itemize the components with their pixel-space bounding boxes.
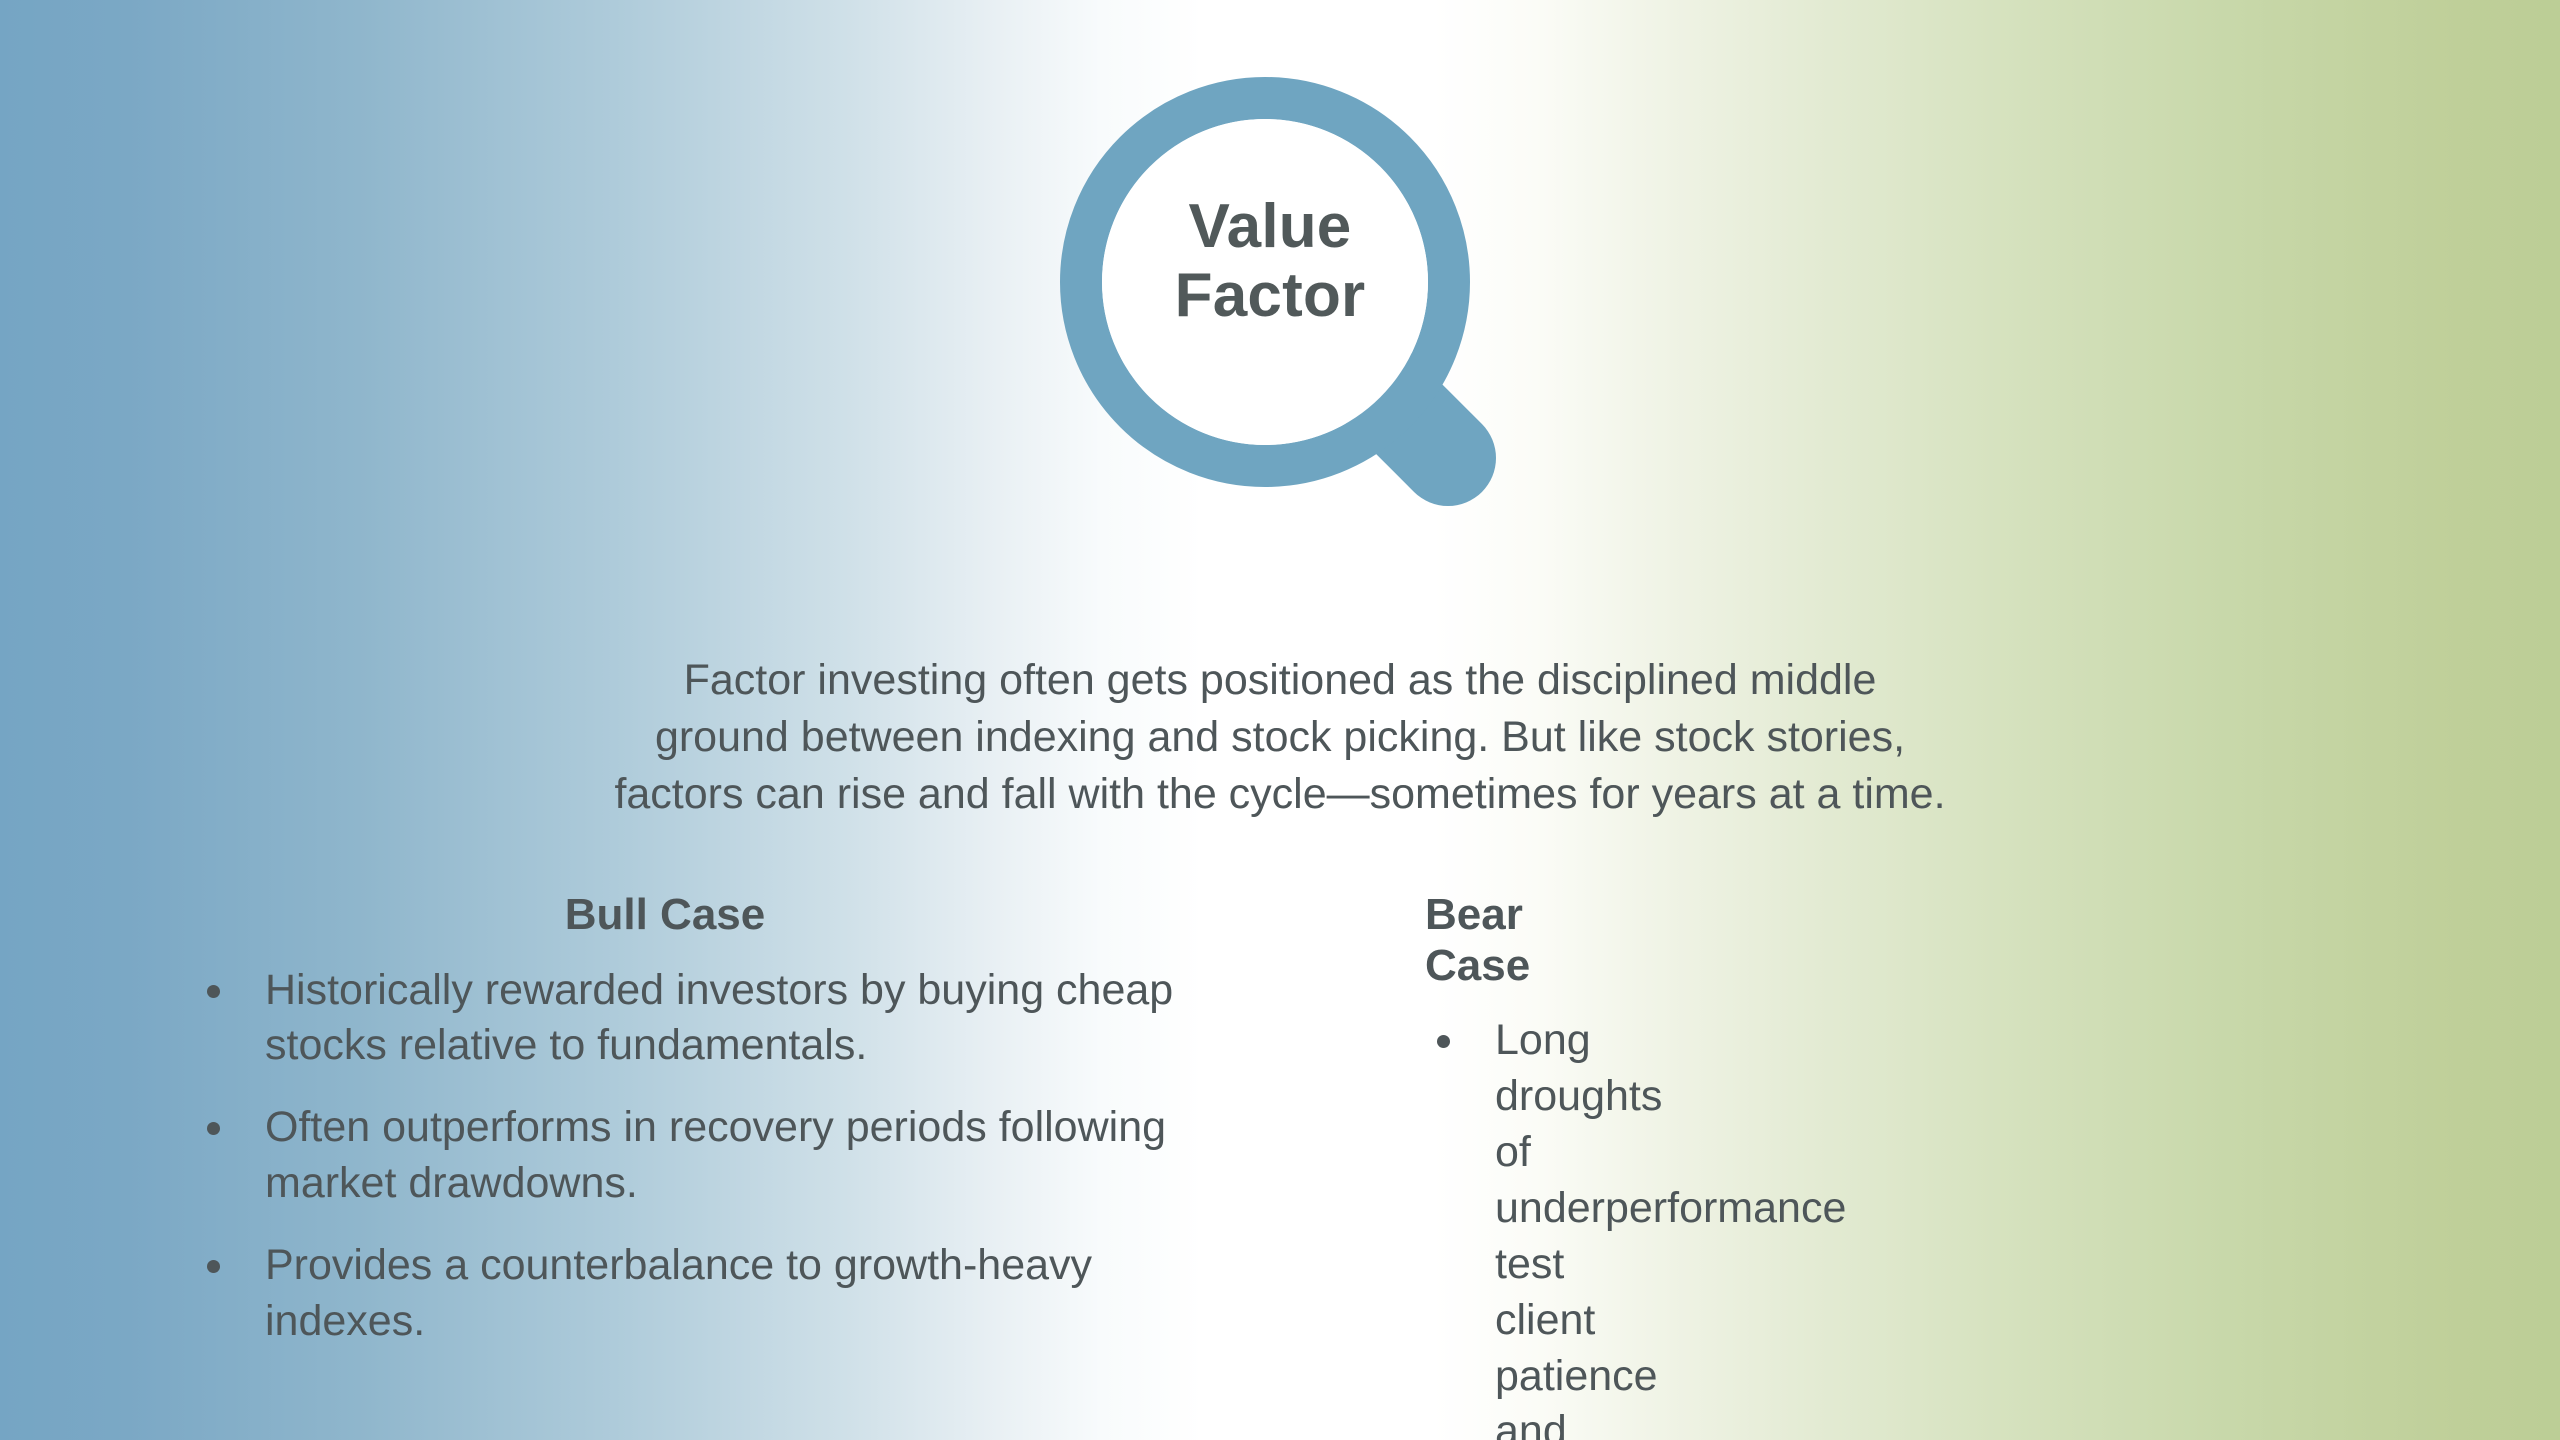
list-item: Provides a counterbalance to growth-heav…: [195, 1238, 1175, 1350]
case-columns: Bull Case Historically rewarded investor…: [0, 890, 2560, 1440]
icon-label: Value Factor: [1060, 192, 1480, 331]
list-item: Historically rewarded investors by buyin…: [195, 963, 1175, 1075]
magnifying-glass-icon: Value Factor: [1060, 70, 1480, 630]
list-item-text: Historically rewarded investors by buyin…: [265, 966, 1173, 1070]
list-item-text: Provides a counterbalance to growth-heav…: [265, 1241, 1092, 1345]
bullet-dot-icon: [1437, 1035, 1450, 1048]
intro-paragraph: Factor investing often gets positioned a…: [340, 652, 2220, 822]
list-item: Often outperforms in recovery periods fo…: [195, 1100, 1175, 1212]
bullet-dot-icon: [207, 1260, 220, 1273]
list-item: Long droughts of underperformance test c…: [1425, 1013, 1495, 1440]
magnifying-glass-graphic: [1060, 70, 1480, 630]
slide-canvas: Value Factor Factor investing often gets…: [0, 0, 2560, 1440]
bull-case-list: Historically rewarded investors by buyin…: [195, 963, 1175, 1350]
list-item-text: Long droughts of underperformance test c…: [1495, 1016, 1846, 1440]
bullet-dot-icon: [207, 985, 220, 998]
list-item-text: Often outperforms in recovery periods fo…: [265, 1103, 1166, 1207]
bullet-dot-icon: [207, 1122, 220, 1135]
bear-case-heading: Bear Case: [1425, 890, 1435, 991]
